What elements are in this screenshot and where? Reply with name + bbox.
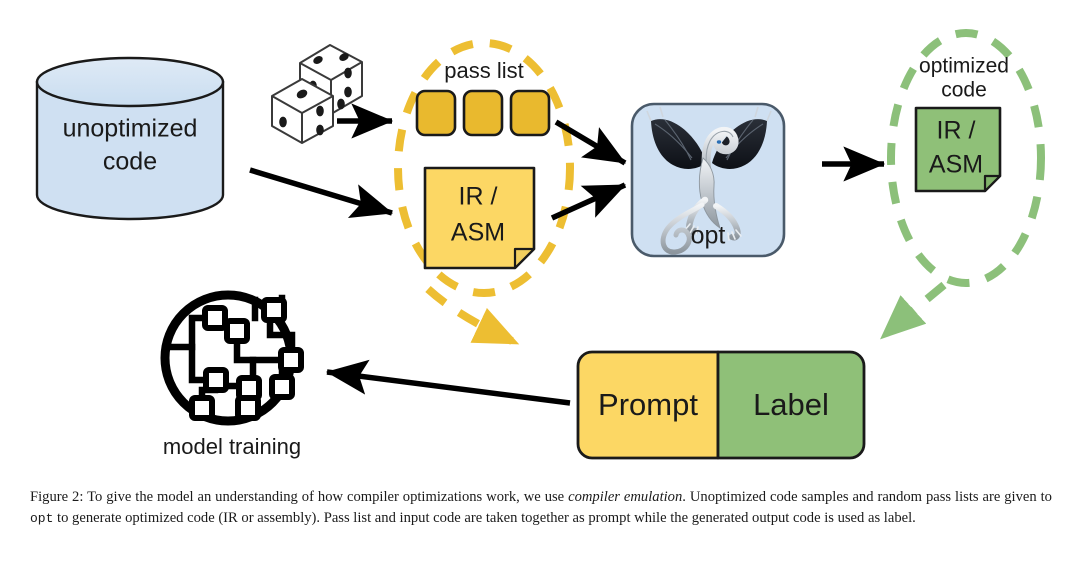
pass-list-tile[interactable] bbox=[511, 91, 549, 135]
input-code-note[interactable]: IR / ASM bbox=[425, 168, 534, 268]
arrow-database-to-input-note bbox=[250, 170, 392, 213]
arrow-input-note-to-opt bbox=[552, 185, 625, 218]
optimized-code-line1: optimized bbox=[919, 55, 1009, 78]
pass-list-tile[interactable] bbox=[464, 91, 502, 135]
database-label-line2: code bbox=[103, 148, 157, 176]
arrow-label-group-to-label bbox=[886, 285, 944, 334]
opt-tool-box[interactable]: opt bbox=[632, 104, 784, 256]
input-note-line1: IR / bbox=[459, 183, 498, 211]
opt-label: opt bbox=[691, 222, 726, 250]
optimized-code-group-label: optimized code bbox=[919, 55, 1009, 102]
output-code-note[interactable]: IR / ASM bbox=[916, 108, 1000, 191]
training-sample-box[interactable]: Prompt Label bbox=[578, 352, 864, 458]
caption-text-part3: to generate optimized code (IR or assemb… bbox=[53, 510, 915, 526]
unoptimized-code-database[interactable]: unoptimized code bbox=[37, 58, 223, 219]
compiler-emulation-diagram: unoptimized code bbox=[0, 0, 1080, 480]
caption-figure-label: Figure 2: bbox=[30, 489, 83, 505]
model-training-node[interactable]: model training bbox=[163, 295, 301, 459]
arrow-prompt-group-to-prompt bbox=[428, 289, 512, 341]
pass-list-group[interactable]: pass list bbox=[417, 58, 549, 135]
caption-mono-opt: opt bbox=[30, 511, 53, 526]
input-note-line2: ASM bbox=[451, 219, 505, 247]
figure-caption: Figure 2: To give the model an understan… bbox=[30, 487, 1052, 530]
model-training-label: model training bbox=[163, 434, 301, 459]
optimized-code-line2: code bbox=[941, 79, 987, 102]
pass-list-label: pass list bbox=[444, 58, 523, 83]
label-label: Label bbox=[753, 387, 829, 422]
database-label-line1: unoptimized bbox=[63, 115, 198, 143]
pass-list-tile[interactable] bbox=[417, 91, 455, 135]
caption-emphasis: compiler emulation bbox=[568, 489, 682, 505]
dice-icon bbox=[272, 45, 362, 143]
arrow-sample-to-model-training bbox=[327, 372, 570, 403]
output-note-line1: IR / bbox=[937, 117, 976, 145]
output-note-line2: ASM bbox=[929, 151, 983, 179]
caption-text-part1: To give the model an understanding of ho… bbox=[83, 489, 568, 505]
prompt-label: Prompt bbox=[598, 387, 698, 422]
caption-text-part2: . Unoptimized code samples and random pa… bbox=[682, 489, 1052, 505]
figure-2: unoptimized code bbox=[0, 0, 1080, 573]
